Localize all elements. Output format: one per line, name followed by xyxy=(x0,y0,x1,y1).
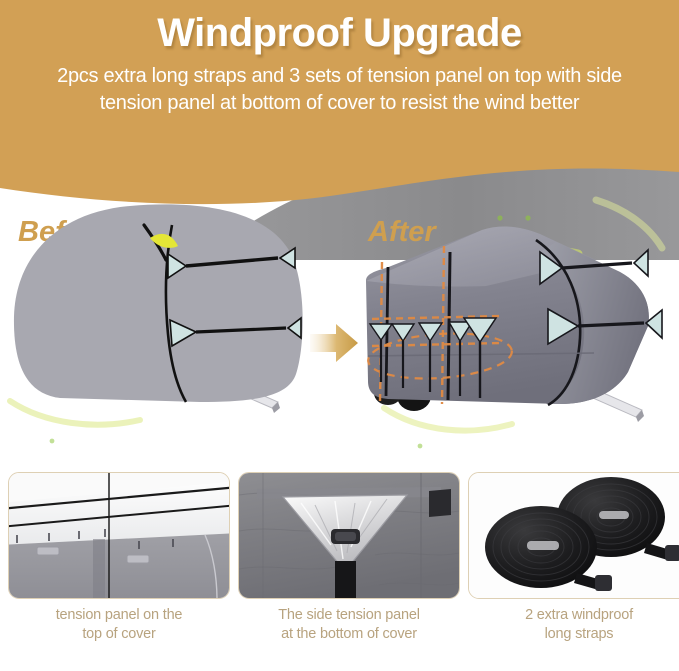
caption-line-2: long straps xyxy=(545,626,614,642)
after-rv-illustration xyxy=(366,200,662,448)
before-rv-illustration xyxy=(10,204,303,443)
caption-line-2: at the bottom of cover xyxy=(281,626,417,642)
strap-buckle-icon xyxy=(331,529,360,544)
tension-top-photo xyxy=(9,473,229,599)
panel-photo-tension-top xyxy=(8,472,230,599)
coiled-straps-photo xyxy=(469,473,679,599)
side-tension-photo xyxy=(239,473,459,599)
infographic-page: Windproof Upgrade 2pcs extra long straps… xyxy=(0,0,679,671)
page-title: Windproof Upgrade xyxy=(0,0,679,55)
panel-side-tension-bottom: The side tension panel at the bottom of … xyxy=(238,472,460,671)
panel-caption-side-tension: The side tension panel at the bottom of … xyxy=(238,606,460,645)
before-cover-body xyxy=(14,204,303,402)
panel-photo-straps xyxy=(468,472,679,599)
caption-line-1: tension panel on the xyxy=(56,607,183,623)
before-after-section: Before After xyxy=(0,196,679,470)
panel-caption-straps: 2 extra windproof long straps xyxy=(468,606,679,645)
caption-line-2: top of cover xyxy=(82,626,155,642)
page-subtitle: 2pcs extra long straps and 3 sets of ten… xyxy=(0,55,679,116)
header-text-block: Windproof Upgrade 2pcs extra long straps… xyxy=(0,0,679,116)
panel-caption-tension-top: tension panel on the top of cover xyxy=(8,606,230,645)
transition-arrow-icon xyxy=(310,324,358,362)
panel-photo-side-tension xyxy=(238,472,460,599)
panel-tension-panel-top: tension panel on the top of cover xyxy=(8,472,230,671)
feature-panels: tension panel on the top of cover xyxy=(0,472,679,671)
caption-line-1: The side tension panel xyxy=(278,607,420,623)
panel-extra-straps: 2 extra windproof long straps xyxy=(468,472,679,671)
caption-line-1: 2 extra windproof xyxy=(525,607,633,623)
before-after-illustration xyxy=(0,196,679,470)
